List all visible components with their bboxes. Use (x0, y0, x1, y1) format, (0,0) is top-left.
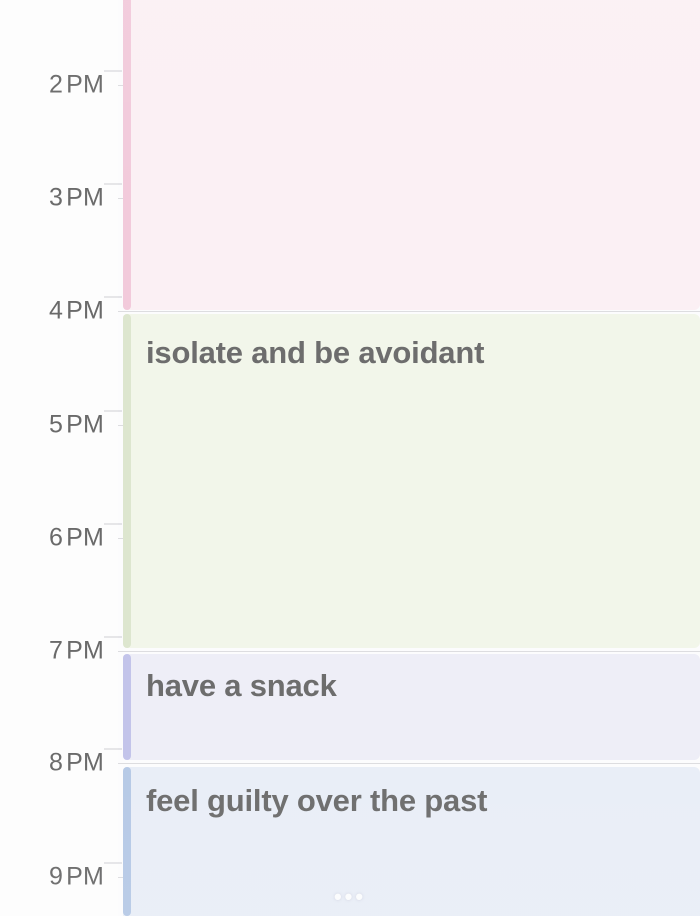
hour-label-6pm: 6PM (49, 524, 104, 553)
hour-tick-mark (104, 184, 122, 185)
hour-label-7pm: 7PM (49, 637, 104, 666)
hour-tick-mark (104, 524, 122, 525)
calendar-day-view: waste my potentialisolate and be avoidan… (0, 0, 700, 916)
event-accent-bar (123, 0, 131, 310)
event-accent-bar (123, 314, 131, 648)
hour-label-8pm: 8PM (49, 749, 104, 778)
calendar-event[interactable]: waste my potential (123, 0, 700, 310)
hour-label-number: 8 (49, 749, 63, 777)
hour-label-number: 6 (49, 524, 63, 552)
event-title: feel guilty over the past (146, 783, 690, 819)
hour-label-meridiem: PM (66, 411, 104, 439)
hour-label-number: 2 (49, 71, 63, 99)
calendar-event[interactable]: have a snack (123, 654, 700, 760)
hour-label-meridiem: PM (66, 863, 104, 891)
hour-label-meridiem: PM (66, 637, 104, 665)
event-title: isolate and be avoidant (146, 335, 690, 371)
hour-label-meridiem: PM (66, 297, 104, 325)
hour-gridline (118, 651, 700, 652)
hour-label-9pm: 9PM (49, 863, 104, 892)
hour-gridline (118, 763, 700, 764)
hour-tick-mark (104, 637, 122, 638)
event-body (123, 0, 700, 310)
event-accent-bar (123, 654, 131, 760)
hour-tick-mark (104, 863, 122, 864)
hour-gridline (118, 311, 700, 312)
hour-label-3pm: 3PM (49, 184, 104, 213)
event-title: have a snack (146, 668, 690, 704)
time-gutter: 2PM3PM4PM5PM6PM7PM8PM9PM (0, 0, 118, 916)
hour-label-meridiem: PM (66, 749, 104, 777)
calendar-event[interactable]: isolate and be avoidant (123, 314, 700, 648)
hour-label-number: 3 (49, 184, 63, 212)
hour-label-meridiem: PM (66, 524, 104, 552)
hour-label-number: 5 (49, 411, 63, 439)
hour-tick-mark (104, 71, 122, 72)
hour-label-number: 7 (49, 637, 63, 665)
hour-label-meridiem: PM (66, 184, 104, 212)
hour-tick-mark (104, 297, 122, 298)
hour-label-meridiem: PM (66, 71, 104, 99)
hour-label-5pm: 5PM (49, 411, 104, 440)
hour-label-number: 9 (49, 863, 63, 891)
hour-tick-mark (104, 749, 122, 750)
hour-label-2pm: 2PM (49, 71, 104, 100)
hour-label-4pm: 4PM (49, 297, 104, 326)
hour-label-number: 4 (49, 297, 63, 325)
hour-tick-mark (104, 411, 122, 412)
